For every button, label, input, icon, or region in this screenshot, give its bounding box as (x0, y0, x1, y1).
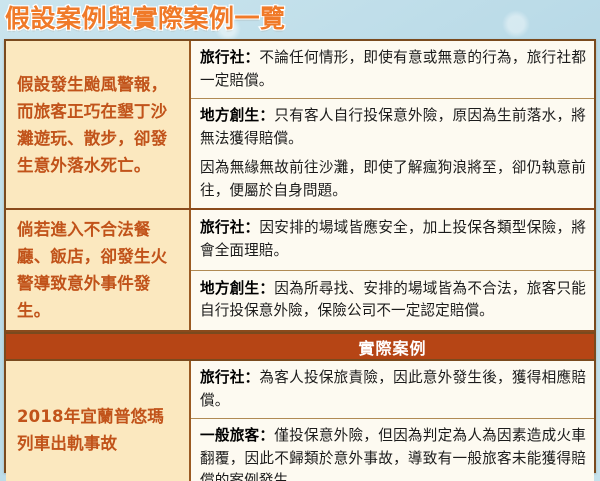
response-label: 地方創生： (200, 280, 274, 297)
scenario-text: 假設發生颱風警報，而旅客正巧在墾丁沙灘遊玩、散步，卻發生意外落水死亡。 (17, 71, 180, 179)
response-cell: 地方創生：只有客人自行投保意外險，原因為生前落水，將無法獲得賠償。 因為無緣無故… (191, 99, 594, 208)
response-cell: 旅行社：為客人投保旅責險，因此意外發生後，獲得相應賠償。 (191, 361, 594, 419)
page-root: 假設案例與實際案例一覽 假設發生颱風警報，而旅客正巧在墾丁沙灘遊玩、散步，卻發生… (0, 0, 600, 481)
response-paragraph: 旅行社：不論任何情形，即使有意或無意的行為，旅行社都一定賠償。 (200, 47, 586, 92)
section-header-band: 實際案例 (6, 332, 594, 361)
comparison-table: 假設發生颱風警報，而旅客正巧在墾丁沙灘遊玩、散步，卻發生意外落水死亡。 旅行社：… (4, 39, 596, 473)
response-label: 地方創生： (200, 107, 274, 124)
response-label: 旅行社： (200, 219, 259, 236)
title-bar: 假設案例與實際案例一覽 (0, 0, 600, 38)
page-title: 假設案例與實際案例一覽 (0, 4, 286, 34)
response-paragraph: 地方創生：只有客人自行投保意外險，原因為生前落水，將無法獲得賠償。 (200, 105, 586, 150)
response-paragraph: 地方創生：因為所尋找、安排的場域皆為不合法，旅客只能自行投保意外險，保險公司不一… (200, 278, 586, 323)
response-cell: 地方創生：因為所尋找、安排的場域皆為不合法，旅客只能自行投保意外險，保險公司不一… (191, 271, 594, 331)
response-label: 一般旅客： (200, 427, 274, 444)
response-cell-group: 旅行社：因安排的場域皆應安全，加上投保各類型保險，將會全面理賠。 地方創生：因為… (191, 210, 594, 330)
table-row: 假設發生颱風警報，而旅客正巧在墾丁沙灘遊玩、散步，卻發生意外落水死亡。 旅行社：… (6, 41, 594, 210)
response-text: 因為無緣無故前往沙灘，即使了解瘋狗浪將至，卻仍執意前往，便屬於自身問題。 (200, 159, 586, 199)
response-paragraph: 因為無緣無故前往沙灘，即使了解瘋狗浪將至，卻仍執意前往，便屬於自身問題。 (200, 157, 586, 202)
response-paragraph: 一般旅客：僅投保意外險，但因為判定為人為因素造成火車翻覆，因此不歸類於意外事故，… (200, 425, 586, 481)
response-label: 旅行社： (200, 49, 259, 66)
scenario-cell: 假設發生颱風警報，而旅客正巧在墾丁沙灘遊玩、散步，卻發生意外落水死亡。 (6, 41, 191, 208)
response-cell: 旅行社：不論任何情形，即使有意或無意的行為，旅行社都一定賠償。 (191, 41, 594, 99)
response-label: 旅行社： (200, 369, 259, 386)
response-paragraph: 旅行社：為客人投保旅責險，因此意外發生後，獲得相應賠償。 (200, 367, 586, 412)
response-cell-group: 旅行社：為客人投保旅責險，因此意外發生後，獲得相應賠償。 一般旅客：僅投保意外險… (191, 361, 594, 481)
table-row: 倘若進入不合法餐廳、飯店，卻發生火警導致意外事件發生。 旅行社：因安排的場域皆應… (6, 210, 594, 332)
response-cell: 旅行社：因安排的場域皆應安全，加上投保各類型保險，將會全面理賠。 (191, 210, 594, 271)
scenario-cell: 2018年宜蘭普悠瑪列車出軌事故 (6, 361, 191, 481)
scenario-text: 2018年宜蘭普悠瑪列車出軌事故 (17, 403, 180, 457)
section-header-label: 實際案例 (358, 335, 426, 359)
table-body: 假設發生颱風警報，而旅客正巧在墾丁沙灘遊玩、散步，卻發生意外落水死亡。 旅行社：… (6, 41, 594, 471)
table-row: 2018年宜蘭普悠瑪列車出軌事故 旅行社：為客人投保旅責險，因此意外發生後，獲得… (6, 361, 594, 481)
response-cell-group: 旅行社：不論任何情形，即使有意或無意的行為，旅行社都一定賠償。 地方創生：只有客… (191, 41, 594, 208)
scenario-cell: 倘若進入不合法餐廳、飯店，卻發生火警導致意外事件發生。 (6, 210, 191, 330)
scenario-text: 倘若進入不合法餐廳、飯店，卻發生火警導致意外事件發生。 (17, 216, 180, 324)
response-paragraph: 旅行社：因安排的場域皆應安全，加上投保各類型保險，將會全面理賠。 (200, 217, 586, 262)
response-cell: 一般旅客：僅投保意外險，但因為判定為人為因素造成火車翻覆，因此不歸類於意外事故，… (191, 419, 594, 481)
